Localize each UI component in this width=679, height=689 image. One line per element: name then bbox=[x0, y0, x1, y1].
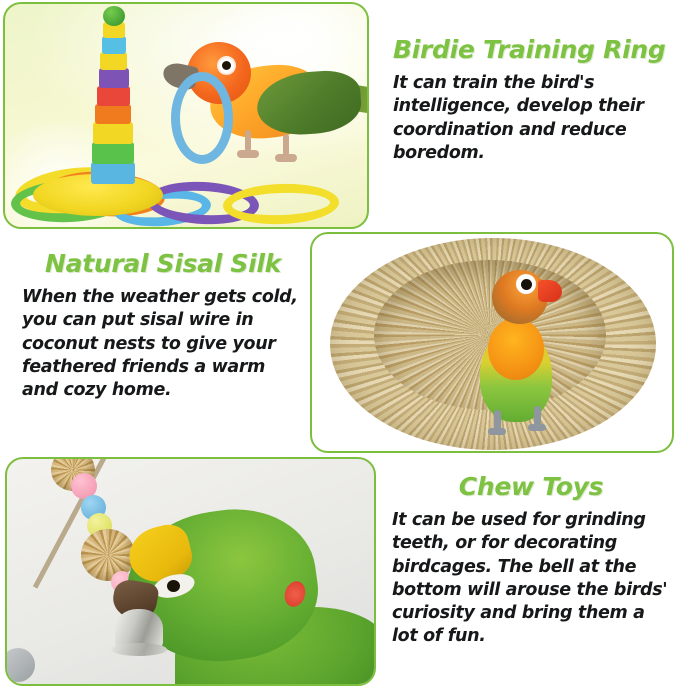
section-body-chew-toys: It can be used for grinding teeth, or fo… bbox=[392, 509, 670, 649]
ring-tower-segment bbox=[91, 162, 135, 184]
section-text-chew-toys: Chew Toys It can be used for grinding te… bbox=[392, 473, 670, 649]
ring-tower-segment bbox=[95, 104, 131, 124]
photo-panel-sisal-nest bbox=[310, 232, 674, 453]
ring-tower-segment bbox=[92, 142, 134, 164]
section-text-sisal-silk: Natural Sisal Silk When the weather gets… bbox=[22, 250, 304, 402]
ring-tower-segment bbox=[99, 68, 129, 88]
lovebird-leg bbox=[494, 410, 501, 430]
parrot-foot bbox=[237, 150, 259, 158]
section-title-chew-toys: Chew Toys bbox=[392, 473, 670, 500]
section-title-sisal-silk: Natural Sisal Silk bbox=[22, 250, 304, 277]
section-body-training-ring: It can train the bird's intelligence, de… bbox=[393, 72, 665, 165]
ring-tower-segment bbox=[100, 52, 127, 70]
photo-panel-training-ring bbox=[3, 2, 369, 229]
parrot-leg bbox=[245, 130, 251, 152]
photo-panel-chew-toys bbox=[5, 457, 376, 686]
parrot-eye bbox=[167, 580, 180, 592]
ring-tower-segment bbox=[102, 36, 126, 54]
parrot-pupil bbox=[222, 61, 231, 70]
metal-perch bbox=[5, 648, 35, 682]
section-title-training-ring: Birdie Training Ring bbox=[393, 36, 665, 63]
ring-tower-segment bbox=[97, 86, 130, 106]
lovebird-beak bbox=[538, 280, 562, 302]
lovebird-pupil bbox=[521, 279, 532, 290]
product-infographic: Birdie Training Ring It can train the bi… bbox=[0, 0, 679, 689]
section-body-sisal-silk: When the weather gets cold, you can put … bbox=[22, 286, 304, 402]
ring-tower-segment bbox=[93, 122, 133, 144]
parrot-leg bbox=[283, 134, 289, 156]
lovebird-foot bbox=[488, 428, 506, 435]
lovebird-chest bbox=[488, 318, 544, 380]
ring-tower-top-ball bbox=[103, 6, 125, 26]
toy-ring-held-blue bbox=[171, 72, 233, 164]
lovebird-foot bbox=[528, 424, 546, 431]
section-text-training-ring: Birdie Training Ring It can train the bi… bbox=[393, 36, 665, 165]
parrot-foot bbox=[275, 154, 297, 162]
lovebird-leg bbox=[534, 406, 541, 426]
toy-bell-rim bbox=[111, 643, 167, 656]
